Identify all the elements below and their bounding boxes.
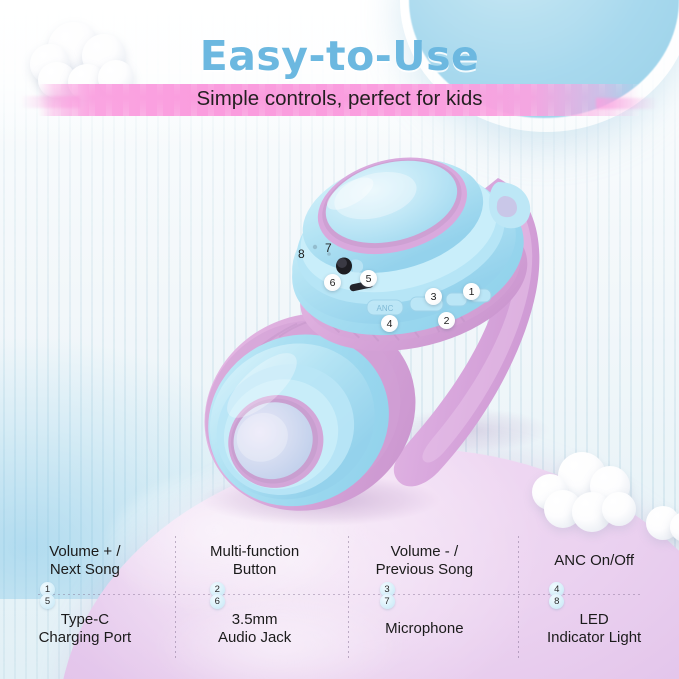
legend-label-1-line1: Volume + / bbox=[49, 543, 120, 560]
legend-item-3: 3 Volume - / Previous Song bbox=[340, 528, 510, 594]
legend-label-3-line1: Volume - / bbox=[391, 543, 459, 560]
legend-label-6-line1: 3.5mm bbox=[232, 611, 278, 628]
legend-label-3: Volume - / Previous Song bbox=[376, 543, 474, 580]
legend-item-4: 4 ANC On/Off bbox=[509, 528, 679, 594]
legend-label-5-line1: Type-C bbox=[61, 611, 109, 628]
legend-label-7: Microphone bbox=[385, 620, 463, 638]
legend-label-8: LED Indicator Light bbox=[547, 611, 641, 648]
legend-label-8-line1: LED bbox=[580, 611, 609, 628]
callout-badge-5: 5 bbox=[360, 270, 377, 287]
callout-badge-1: 1 bbox=[463, 283, 480, 300]
legend-label-2: Multi-function Button bbox=[210, 543, 299, 580]
callout-badge-2: 2 bbox=[438, 312, 455, 329]
legend-label-1-line2: Next Song bbox=[50, 561, 120, 578]
legend-item-1: 1 Volume + / Next Song bbox=[0, 528, 170, 594]
legend-label-2-line1: Multi-function bbox=[210, 543, 299, 560]
legend-label-6: 3.5mm Audio Jack bbox=[218, 611, 291, 648]
callout-badge-4: 4 bbox=[381, 315, 398, 332]
legend-badge-7: 7 bbox=[380, 594, 395, 609]
legend-item-6: 6 3.5mm Audio Jack bbox=[170, 596, 340, 662]
legend-label-1: Volume + / Next Song bbox=[49, 543, 120, 580]
legend-label-4: ANC On/Off bbox=[554, 552, 634, 570]
legend-label-8-line2: Indicator Light bbox=[547, 629, 641, 646]
legend-label-5: Type-C Charging Port bbox=[39, 611, 132, 648]
svg-text:ANC: ANC bbox=[377, 304, 394, 313]
legend-badge-8: 8 bbox=[549, 594, 564, 609]
legend-badge-5: 5 bbox=[40, 594, 55, 609]
legend-item-7: 7 Microphone bbox=[340, 596, 510, 662]
callout-badge-3: 3 bbox=[425, 288, 442, 305]
legend-label-5-line2: Charging Port bbox=[39, 629, 132, 646]
legend-label-3-line2: Previous Song bbox=[376, 561, 474, 578]
controls-legend: 1 Volume + / Next Song 2 Multi-function … bbox=[0, 528, 679, 668]
legend-item-5: 5 Type-C Charging Port bbox=[0, 596, 170, 662]
callout-number-8: 8 bbox=[298, 247, 305, 261]
legend-row-2: 5 Type-C Charging Port 6 3.5mm Audio Jac… bbox=[0, 596, 679, 662]
legend-row-1: 1 Volume + / Next Song 2 Multi-function … bbox=[0, 528, 679, 594]
legend-item-8: 8 LED Indicator Light bbox=[509, 596, 679, 662]
legend-item-2: 2 Multi-function Button bbox=[170, 528, 340, 594]
callout-badge-6: 6 bbox=[324, 274, 341, 291]
legend-badge-6: 6 bbox=[210, 594, 225, 609]
legend-label-6-line2: Audio Jack bbox=[218, 629, 291, 646]
callout-number-7: 7 bbox=[325, 241, 332, 255]
product-infographic: Easy-to-Use Simple controls, perfect for… bbox=[0, 0, 679, 679]
legend-label-2-line2: Button bbox=[233, 561, 276, 578]
